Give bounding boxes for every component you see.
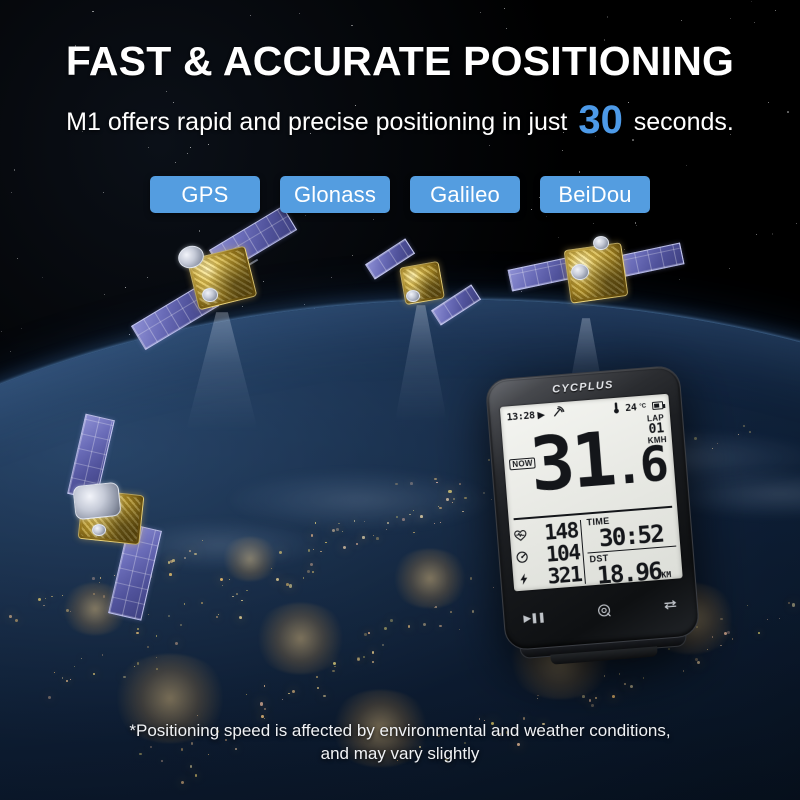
device-lcd-screen: 13:28 ▶ 24 °C <box>500 394 683 592</box>
bike-computer-device: CYCPLUS 13:28 ▶ <box>485 365 701 651</box>
lcd-metric-column: 148 104 <box>509 517 585 591</box>
distance-unit: KM <box>661 570 671 580</box>
satellite-dish <box>571 264 589 280</box>
subtitle: M1 offers rapid and precise positioning … <box>0 98 800 143</box>
lap-button[interactable] <box>596 602 611 622</box>
seconds-highlight: 30 <box>574 98 627 142</box>
satellite-glonass <box>370 248 480 328</box>
subtitle-after: seconds. <box>634 108 734 136</box>
metric-power: 321 <box>517 564 582 590</box>
subtitle-before: M1 offers rapid and precise positioning … <box>66 108 567 136</box>
disclaimer-line-2: and may vary slightly <box>0 743 800 766</box>
gnss-badge-row: GPSGlonassGalileoBeiDou <box>0 176 800 213</box>
gnss-badge-glonass[interactable]: Glonass <box>280 176 390 213</box>
satellite-dish <box>593 236 609 250</box>
gnss-badge-gps[interactable]: GPS <box>150 176 260 213</box>
current-speed-value: 31.6 <box>527 411 642 520</box>
lcd-speed-area: NOW 31.6 LAP 01 KMH <box>501 411 677 516</box>
satellite-galileo <box>505 238 685 348</box>
satellite-dish <box>72 482 121 521</box>
battery-icon <box>652 401 664 410</box>
satellite-dish <box>406 290 420 302</box>
satellite-dish <box>202 288 218 302</box>
lcd-data-grid: 148 104 <box>509 509 683 591</box>
status-spacer <box>567 409 610 412</box>
power-value: 321 <box>533 564 582 589</box>
speed-unit: KMH <box>648 436 668 446</box>
power-icon <box>517 572 531 586</box>
heart-rate-icon <box>513 528 527 542</box>
satellite-beidou <box>62 418 232 618</box>
lap-indicator: LAP 01 KMH <box>646 414 667 446</box>
play-pause-button[interactable]: ▶❚❚ <box>523 612 545 625</box>
page-title: FAST & ACCURATE POSITIONING <box>0 38 800 85</box>
disclaimer-line-1: *Positioning speed is affected by enviro… <box>0 720 800 743</box>
speed-decimal: .6 <box>612 436 668 496</box>
gnss-badge-beidou[interactable]: BeiDou <box>540 176 650 213</box>
satellite-gps <box>150 228 330 348</box>
temperature-unit: °C <box>639 403 646 410</box>
speed-whole: 31 <box>527 416 617 508</box>
satellite-dish <box>92 524 106 536</box>
page-switch-button[interactable] <box>662 598 678 617</box>
lcd-field-column: TIME 30:52 DST 18.96KM <box>581 509 683 585</box>
gnss-badge-galileo[interactable]: Galileo <box>410 176 520 213</box>
disclaimer-note: *Positioning speed is affected by enviro… <box>0 720 800 766</box>
cadence-icon <box>515 550 529 564</box>
